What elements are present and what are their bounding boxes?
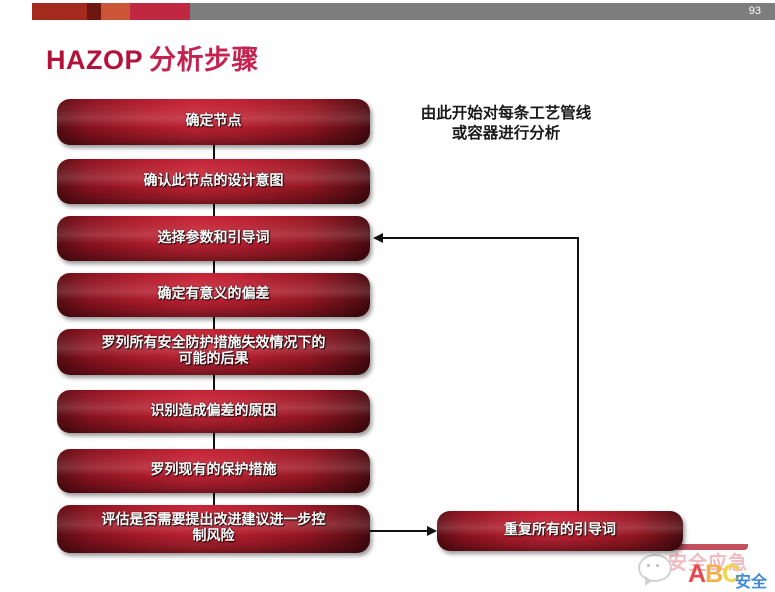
flow-node-label: 确定节点 [186,114,242,130]
watermark-letter-a: A [688,560,705,588]
flow-node-label: 识别造成偏差的原因 [151,404,277,420]
flow-node-label: 选择参数和引导词 [158,231,270,247]
slide-canvas: 93 HAZOP分析步骤 由此开始对每条工艺管线 或容器进行分析 确定节点确认此… [0,0,775,592]
flow-node-label: 确认此节点的设计意图 [144,174,284,190]
chat-bubble-icon [638,554,672,582]
flow-node-n6[interactable]: 识别造成偏差的原因 [57,390,370,433]
flow-node-label: 罗列所有安全防护措施失效情况下的 可能的后果 [102,336,326,367]
bar-segment-1 [32,3,87,20]
flow-node-n9[interactable]: 重复所有的引导词 [437,511,683,551]
connector-n5-n6 [213,375,215,390]
flow-node-n5[interactable]: 罗列所有安全防护措施失效情况下的 可能的后果 [57,329,370,375]
flow-node-n3[interactable]: 选择参数和引导词 [57,216,370,261]
connector-n3-n4 [213,261,215,273]
watermark-abc-logo: ABC [688,562,739,587]
bubble-eye-left-icon [647,564,650,567]
side-note-text: 由此开始对每条工艺管线 或容器进行分析 [381,103,631,143]
bar-segment-4 [130,3,190,20]
bar-segment-2 [87,3,101,20]
connector-n7-n8 [213,493,215,505]
bar-segment-gray: 93 [190,3,775,20]
page-title-en: HAZOP [46,45,143,75]
arrow-into-n3 [373,233,383,243]
flow-node-n2[interactable]: 确认此节点的设计意图 [57,159,370,204]
page-title-cn: 分析步骤 [143,45,259,76]
arrow-into-n9 [427,526,437,536]
page-title: HAZOP分析步骤 [46,38,259,77]
watermark-letter-b: B [705,560,722,588]
connector-n6-n7 [213,433,215,449]
page-number: 93 [749,3,761,20]
flow-node-n1[interactable]: 确定节点 [57,99,370,145]
bubble-eye-right-icon [656,564,659,567]
flow-node-label: 评估是否需要提出改进建议进一步控 制风险 [102,513,326,544]
connector-n4-n5 [213,317,215,329]
wechat-watermark: 安全应急 ABC 安全 [636,546,775,592]
connector-n2-n3 [213,204,215,216]
top-decorative-bar: 93 [0,3,775,20]
bar-segment-3 [101,3,130,20]
connector-n1-n2 [213,145,215,159]
flow-node-label: 重复所有的引导词 [504,523,616,539]
flow-node-label: 确定有意义的偏差 [158,287,270,303]
watermark-secondary-text: 安全 [735,568,767,592]
connector-n8-n9 [370,530,427,532]
flow-node-label: 罗列现有的保护措施 [151,463,277,479]
bar-segment-darkred [0,3,32,20]
flow-node-n8[interactable]: 评估是否需要提出改进建议进一步控 制风险 [57,505,370,553]
flow-node-n7[interactable]: 罗列现有的保护措施 [57,449,370,493]
flow-node-n4[interactable]: 确定有意义的偏差 [57,273,370,317]
feedback-vertical-right [577,237,579,512]
feedback-horizontal-top [383,237,579,239]
